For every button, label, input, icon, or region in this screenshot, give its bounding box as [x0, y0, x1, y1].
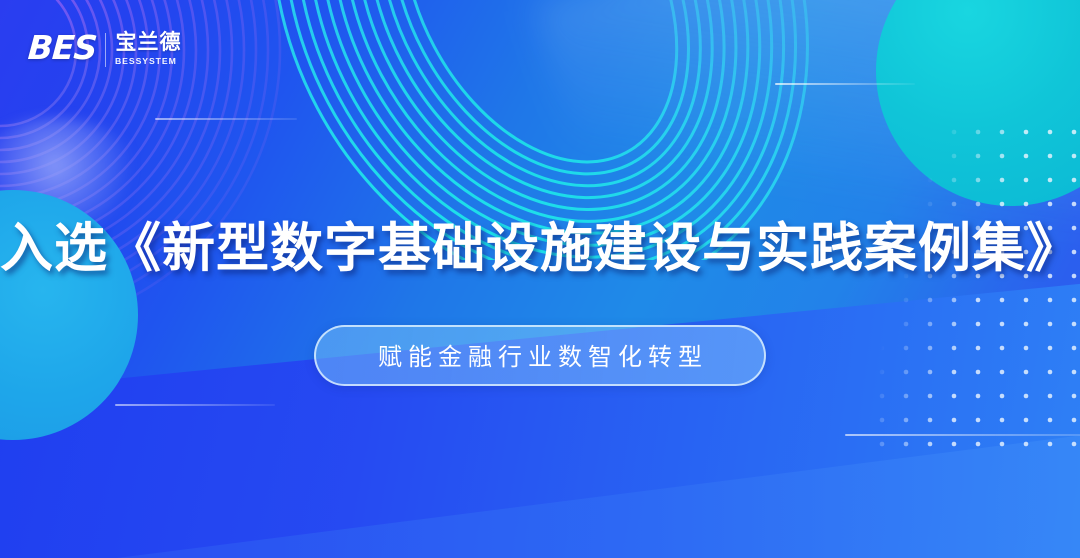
- brand-logo[interactable]: BES 宝兰德 BESSYSTEM: [28, 31, 181, 67]
- accent-rule-bottom-left: [115, 404, 275, 406]
- brand-name-en: BESSYSTEM: [115, 57, 182, 66]
- promo-banner: BES 宝兰德 BESSYSTEM 入选《新型数字基础设施建设与实践案例集》 赋…: [0, 0, 1080, 558]
- headline-title: 入选《新型数字基础设施建设与实践案例集》: [0, 206, 1080, 282]
- accent-rule-bottom-right: [845, 434, 1080, 436]
- bes-wordmark-icon: BES: [27, 31, 98, 64]
- brand-name-block: 宝兰德 BESSYSTEM: [115, 31, 181, 66]
- bottom-wave-decoration-2: [0, 398, 1080, 558]
- bottom-wave-decoration: [0, 268, 1080, 558]
- brand-name-cn: 宝兰德: [115, 32, 181, 53]
- subtitle-pill: 赋能金融行业数智化转型: [314, 325, 766, 386]
- logo-divider-icon: [105, 33, 106, 67]
- dot-grid-decoration: [870, 120, 1080, 450]
- teal-circle-decoration: [876, 0, 1080, 206]
- accent-rule-top-left: [155, 118, 297, 120]
- subtitle-container: 赋能金融行业数智化转型: [0, 325, 1080, 386]
- accent-rule-top-right: [775, 83, 915, 85]
